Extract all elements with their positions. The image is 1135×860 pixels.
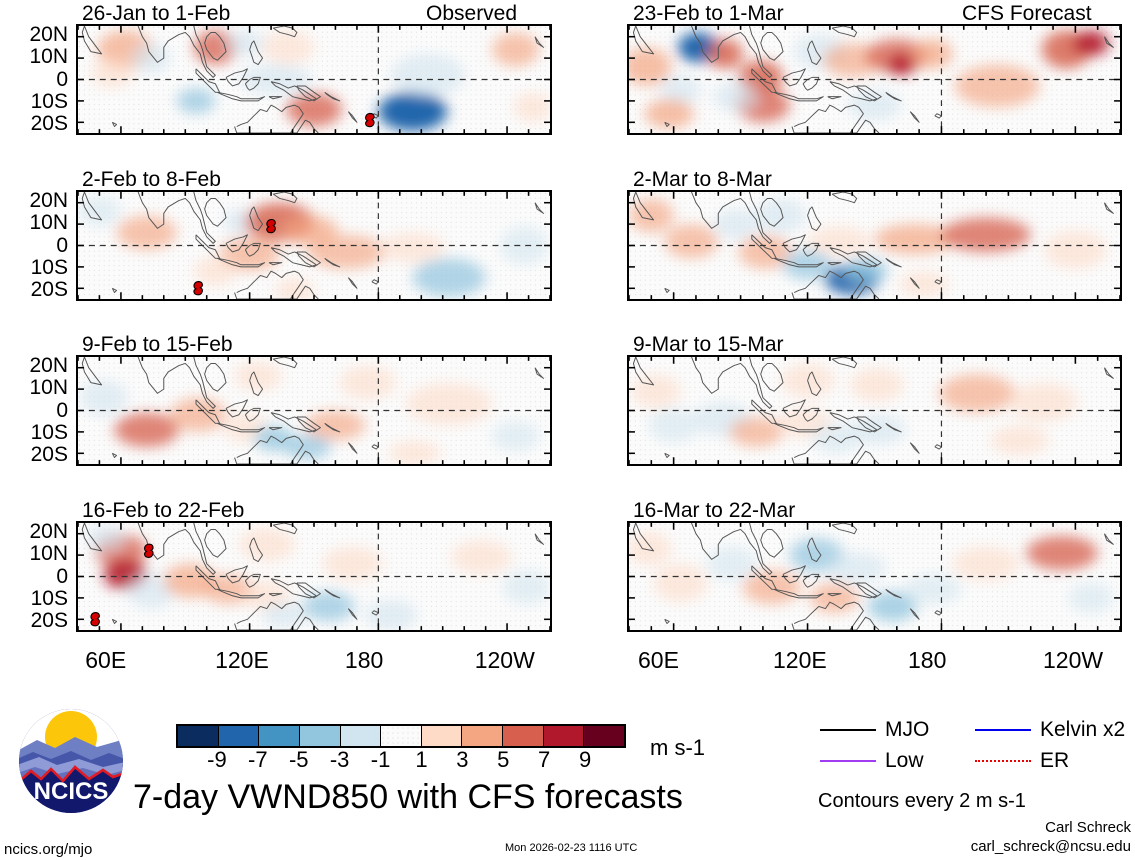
y-axis-tick-label: 20S [0,610,68,631]
map-frame [76,521,552,632]
ncics-logo: NCICS [17,707,125,815]
credit-block: Carl Schreck carl_schreck@ncsu.edu [971,818,1131,856]
colorbar-tick: 9 [579,748,591,772]
colorbar-tick: -1 [371,748,391,772]
panel-title: 16-Feb to 22-Feb [82,500,244,521]
panel-title: 9-Mar to 15-Mar [633,334,784,355]
y-axis-tick-label: 10N [0,46,68,67]
y-axis-tick-label: 10S [0,91,68,112]
y-axis-tick-label: 20S [0,113,68,134]
y-axis-tick-label: 10S [0,422,68,443]
y-axis-tick-label: 20N [0,355,68,376]
map-frame [627,190,1122,301]
x-axis-tick-label: 120E [215,649,269,672]
legend-item-low: Low [820,750,975,771]
x-axis-tick-label: 120W [1043,649,1103,672]
colorbar-swatch-5 [381,726,422,746]
map-frame [76,24,552,135]
y-axis-tick-label: 20N [0,24,68,45]
colorbar-swatch-6 [422,726,463,746]
x-axis-tick-label: 180 [345,649,383,672]
legend-row: Low ER [820,745,1130,776]
legend-label: Low [885,750,924,771]
y-axis-tick-label: 10N [0,377,68,398]
panel-corner-label: Observed [426,3,517,24]
panel-corner-label: CFS Forecast [962,3,1092,24]
y-axis-tick-label: 0 [0,69,68,90]
tropical-cyclone-icon [366,113,374,126]
colorbar-tick: 5 [497,748,509,772]
colorbar-swatch-9 [544,726,585,746]
colorbar: -9-7-5-3-113579 [176,724,626,774]
colorbar-ticklabels: -9-7-5-3-113579 [176,748,626,774]
line-swatch-kelvin-icon [975,729,1031,731]
x-axis-tick-label: 60E [85,649,126,672]
y-axis-tick-label: 10S [0,257,68,278]
map-frame [76,190,552,301]
y-axis-tick-label: 20N [0,521,68,542]
legend-item-mjo: MJO [820,719,975,740]
line-swatch-mjo-icon [820,729,876,731]
tropical-cyclone-icon [194,282,202,295]
colorbar-swatch-2 [259,726,300,746]
panel-title: 23-Feb to 1-Mar [633,3,784,24]
line-swatch-low-icon [820,760,876,762]
legend-row: MJO Kelvin x2 [820,714,1130,745]
panel-title: 9-Feb to 15-Feb [82,334,233,355]
panel-title: 2-Mar to 8-Mar [633,169,772,190]
legend-label: MJO [885,719,929,740]
legend-label: Kelvin x2 [1040,719,1125,740]
y-axis-tick-label: 10N [0,543,68,564]
site-url: ncics.org/mjo [4,841,92,858]
colorbar-tick: -7 [248,748,268,772]
tropical-cyclone-icon [145,544,153,557]
x-axis-tick-label: 60E [638,649,679,672]
colorbar-swatches [176,724,626,748]
y-axis-tick-label: 0 [0,400,68,421]
generation-timestamp: Mon 2026-02-23 1116 UTC [505,842,637,854]
legend-item-er: ER [975,750,1130,771]
legend-label: ER [1040,750,1069,771]
y-axis-tick-label: 20S [0,444,68,465]
colorbar-tick: -9 [207,748,227,772]
colorbar-swatch-7 [462,726,503,746]
colorbar-swatch-0 [178,726,219,746]
main-title: 7-day VWND850 with CFS forecasts [133,778,683,816]
y-axis-tick-label: 20S [0,279,68,300]
author-name: Carl Schreck [971,818,1131,837]
map-frame [627,521,1122,632]
y-axis-tick-label: 20N [0,190,68,211]
colorbar-units-label: m s-1 [650,735,705,761]
tropical-cyclone-icon [267,219,275,232]
map-frame [627,355,1122,466]
panel-title: 2-Feb to 8-Feb [82,169,221,190]
y-axis-tick-label: 10S [0,588,68,609]
colorbar-tick: 3 [456,748,468,772]
map-frame [76,355,552,466]
y-axis-tick-label: 0 [0,566,68,587]
colorbar-swatch-4 [341,726,382,746]
panel-title: 26-Jan to 1-Feb [82,3,230,24]
map-frame [627,24,1122,135]
tropical-cyclone-icon [91,613,99,626]
colorbar-swatch-1 [219,726,260,746]
line-swatch-er-icon [975,760,1031,762]
contour-note: Contours every 2 m s-1 [818,790,1026,813]
svg-text:NCICS: NCICS [34,778,109,805]
colorbar-tick: -3 [330,748,350,772]
x-axis-tick-label: 120E [773,649,827,672]
panel-title: 16-Mar to 22-Mar [633,500,795,521]
colorbar-tick: -5 [289,748,309,772]
author-email: carl_schreck@ncsu.edu [971,837,1131,856]
colorbar-tick: 7 [538,748,550,772]
x-axis-tick-label: 180 [908,649,946,672]
y-axis-tick-label: 10N [0,212,68,233]
legend-item-kelvin: Kelvin x2 [975,719,1130,740]
colorbar-swatch-10 [584,726,624,746]
legend: MJO Kelvin x2 Low ER [820,714,1130,776]
x-axis-tick-label: 120W [475,649,535,672]
colorbar-swatch-8 [503,726,544,746]
colorbar-swatch-3 [300,726,341,746]
colorbar-tick: 1 [415,748,427,772]
y-axis-tick-label: 0 [0,235,68,256]
panel-grid: 26-Jan to 1-FebObserved20N10N010S20S2-Fe… [0,0,1135,690]
